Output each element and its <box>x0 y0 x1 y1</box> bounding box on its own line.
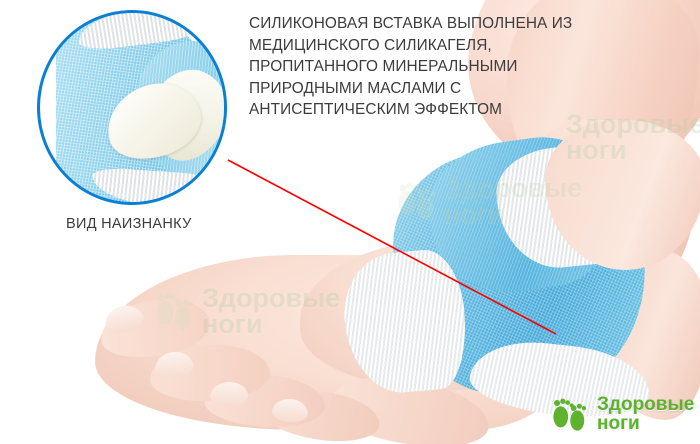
watermark-line-2: ноги <box>566 138 700 164</box>
caption-line-2: МЕДИЦИНСКОГО СИЛИКАГЕЛЯ, <box>249 35 589 57</box>
watermark-line-1: Здоровые <box>444 176 582 202</box>
watermark-2: Здоровые ноги <box>566 112 700 163</box>
footprints-icon <box>394 177 438 227</box>
watermark-text: Здоровые ноги <box>566 112 700 163</box>
watermark-text: Здоровые ноги <box>202 286 340 337</box>
watermark-line-2: ноги <box>202 312 340 338</box>
brand-logo-text: Здоровые ноги <box>597 396 694 433</box>
watermark-1: Здоровые ноги <box>152 286 340 337</box>
watermark-line-2: ноги <box>444 202 582 228</box>
inside-out-inset-circle <box>37 10 227 205</box>
caption-text: СИЛИКОНОВАЯ ВСТАВКА ВЫПОЛНЕНА ИЗ МЕДИЦИН… <box>249 13 589 121</box>
footprints-icon <box>152 287 196 337</box>
footprints-icon <box>548 392 590 438</box>
caption-line-4: ПРИРОДНЫМИ МАСЛАМИ С <box>249 78 589 100</box>
inset-caption-label: ВИД НАИЗНАНКУ <box>66 216 192 232</box>
brand-logo[interactable]: Здоровые ноги <box>548 392 694 438</box>
product-photo: СИЛИКОНОВАЯ ВСТАВКА ВЫПОЛНЕНА ИЗ МЕДИЦИН… <box>0 0 700 444</box>
watermark-3: Здоровые ноги <box>394 176 582 227</box>
watermark-text: Здоровые ноги <box>444 176 582 227</box>
caption-line-3: ПРОПИТАННОГО МИНЕРАЛЬНЫМИ <box>249 56 589 78</box>
caption-line-1: СИЛИКОНОВАЯ ВСТАВКА ВЫПОЛНЕНА ИЗ <box>249 13 589 35</box>
brand-logo-line-2: ноги <box>597 415 694 434</box>
watermark-line-1: Здоровые <box>566 112 700 138</box>
watermark-line-1: Здоровые <box>202 286 340 312</box>
caption-line-5: АНТИСЕПТИЧЕСКИМ ЭФФЕКТОМ <box>249 99 589 121</box>
